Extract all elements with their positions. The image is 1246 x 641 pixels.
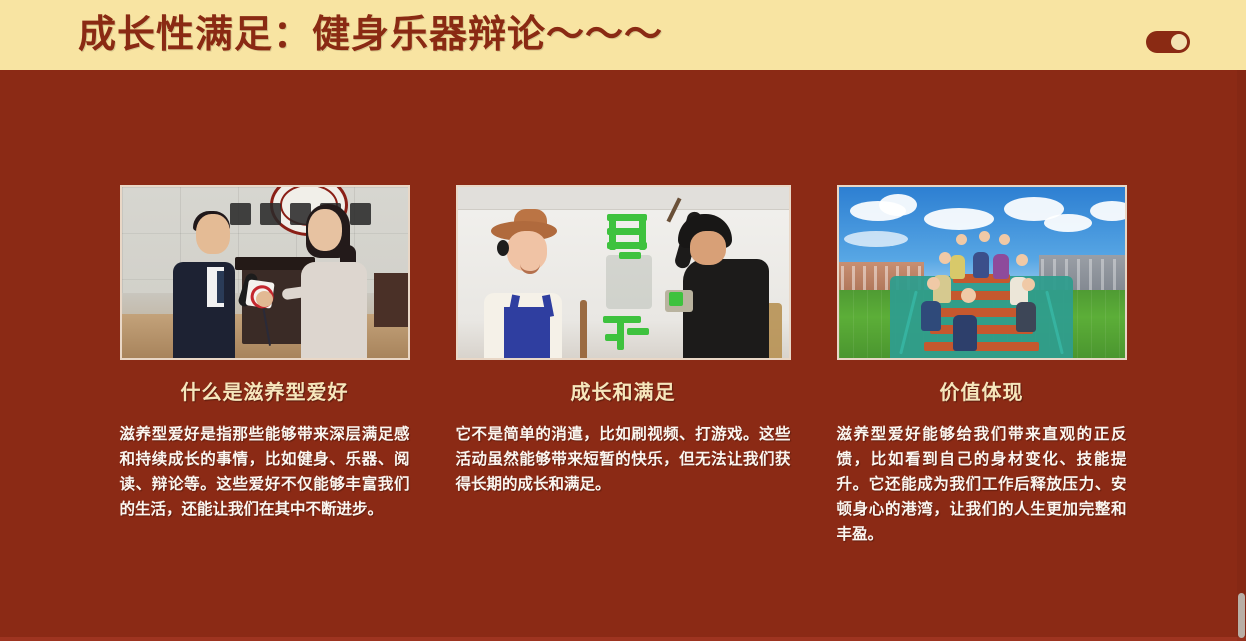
card-growth-satisfaction: 成长和满足 它不是简单的消遣，比如刷视频、打游戏。这些活动虽然能够带来短暂的快乐… <box>456 185 791 497</box>
card-image-mural[interactable] <box>456 185 791 360</box>
bottom-divider <box>0 637 1246 641</box>
card-body-text: 滋养型爱好能够给我们带来直观的正反馈，比如看到自己的身材变化、技能提升。它还能成… <box>837 422 1127 547</box>
interview-illustration <box>122 187 408 358</box>
card-nurturing-hobby: 什么是滋养型爱好 滋养型爱好是指那些能够带来深层满足感和持续成长的事情，比如健身… <box>120 185 410 522</box>
card-value-expression: 价值体现 滋养型爱好能够给我们带来直观的正反馈，比如看到自己的身材变化、技能提升… <box>837 185 1127 547</box>
card-image-interview[interactable] <box>120 185 410 360</box>
page-header: 成长性满足：健身乐器辩论～～～ <box>0 0 1246 70</box>
card-row: 什么是滋养型爱好 滋养型爱好是指那些能够带来深层满足感和持续成长的事情，比如健身… <box>0 185 1246 547</box>
page-title: 成长性满足：健身乐器辩论～～～ <box>78 11 663 59</box>
card-title: 价值体现 <box>940 376 1024 405</box>
card-body-text: 滋养型爱好是指那些能够带来深层满足感和持续成长的事情，比如健身、乐器、阅读、辩论… <box>120 422 410 522</box>
card-body-text: 它不是简单的消遣，比如刷视频、打游戏。这些活动虽然能够带来短暂的快乐，但无法让我… <box>456 422 791 497</box>
content-stage: 什么是滋养型爱好 滋养型爱好是指那些能够带来深层满足感和持续成长的事情，比如健身… <box>0 70 1246 641</box>
mode-toggle[interactable] <box>1146 31 1190 53</box>
card-title: 成长和满足 <box>571 376 676 405</box>
card-image-students[interactable] <box>837 185 1127 360</box>
mural-illustration <box>458 187 789 358</box>
vertical-scrollbar[interactable] <box>1237 70 1246 641</box>
students-illustration <box>839 187 1125 358</box>
card-title: 什么是滋养型爱好 <box>181 376 349 405</box>
scrollbar-thumb[interactable] <box>1238 593 1245 638</box>
toggle-knob-icon <box>1171 34 1187 50</box>
